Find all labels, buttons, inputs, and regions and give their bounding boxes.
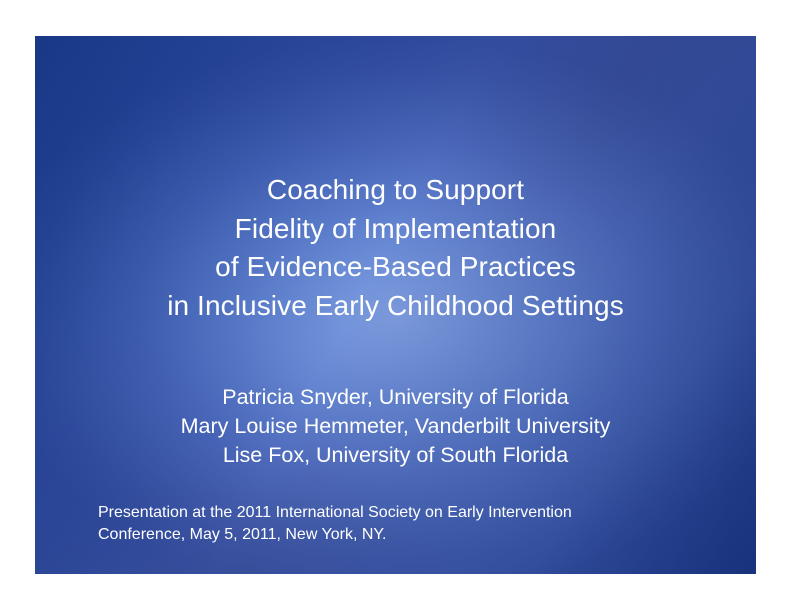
presentation-title-slide: Coaching to Support Fidelity of Implemen… bbox=[35, 36, 756, 574]
title-line-4: in Inclusive Early Childhood Settings bbox=[35, 287, 756, 326]
author-line-2: Mary Louise Hemmeter, Vanderbilt Univers… bbox=[35, 412, 756, 441]
author-line-3: Lise Fox, University of South Florida bbox=[35, 441, 756, 470]
title-line-1: Coaching to Support bbox=[35, 171, 756, 210]
footer-line-1: Presentation at the 2011 International S… bbox=[98, 502, 718, 524]
title-line-3: of Evidence-Based Practices bbox=[35, 248, 756, 287]
slide-footer-citation: Presentation at the 2011 International S… bbox=[98, 502, 718, 545]
slide-authors: Patricia Snyder, University of Florida M… bbox=[35, 383, 756, 470]
title-line-2: Fidelity of Implementation bbox=[35, 210, 756, 249]
slide-title: Coaching to Support Fidelity of Implemen… bbox=[35, 171, 756, 325]
footer-line-2: Conference, May 5, 2011, New York, NY. bbox=[98, 524, 718, 546]
slide-canvas: Coaching to Support Fidelity of Implemen… bbox=[0, 0, 792, 612]
author-line-1: Patricia Snyder, University of Florida bbox=[35, 383, 756, 412]
